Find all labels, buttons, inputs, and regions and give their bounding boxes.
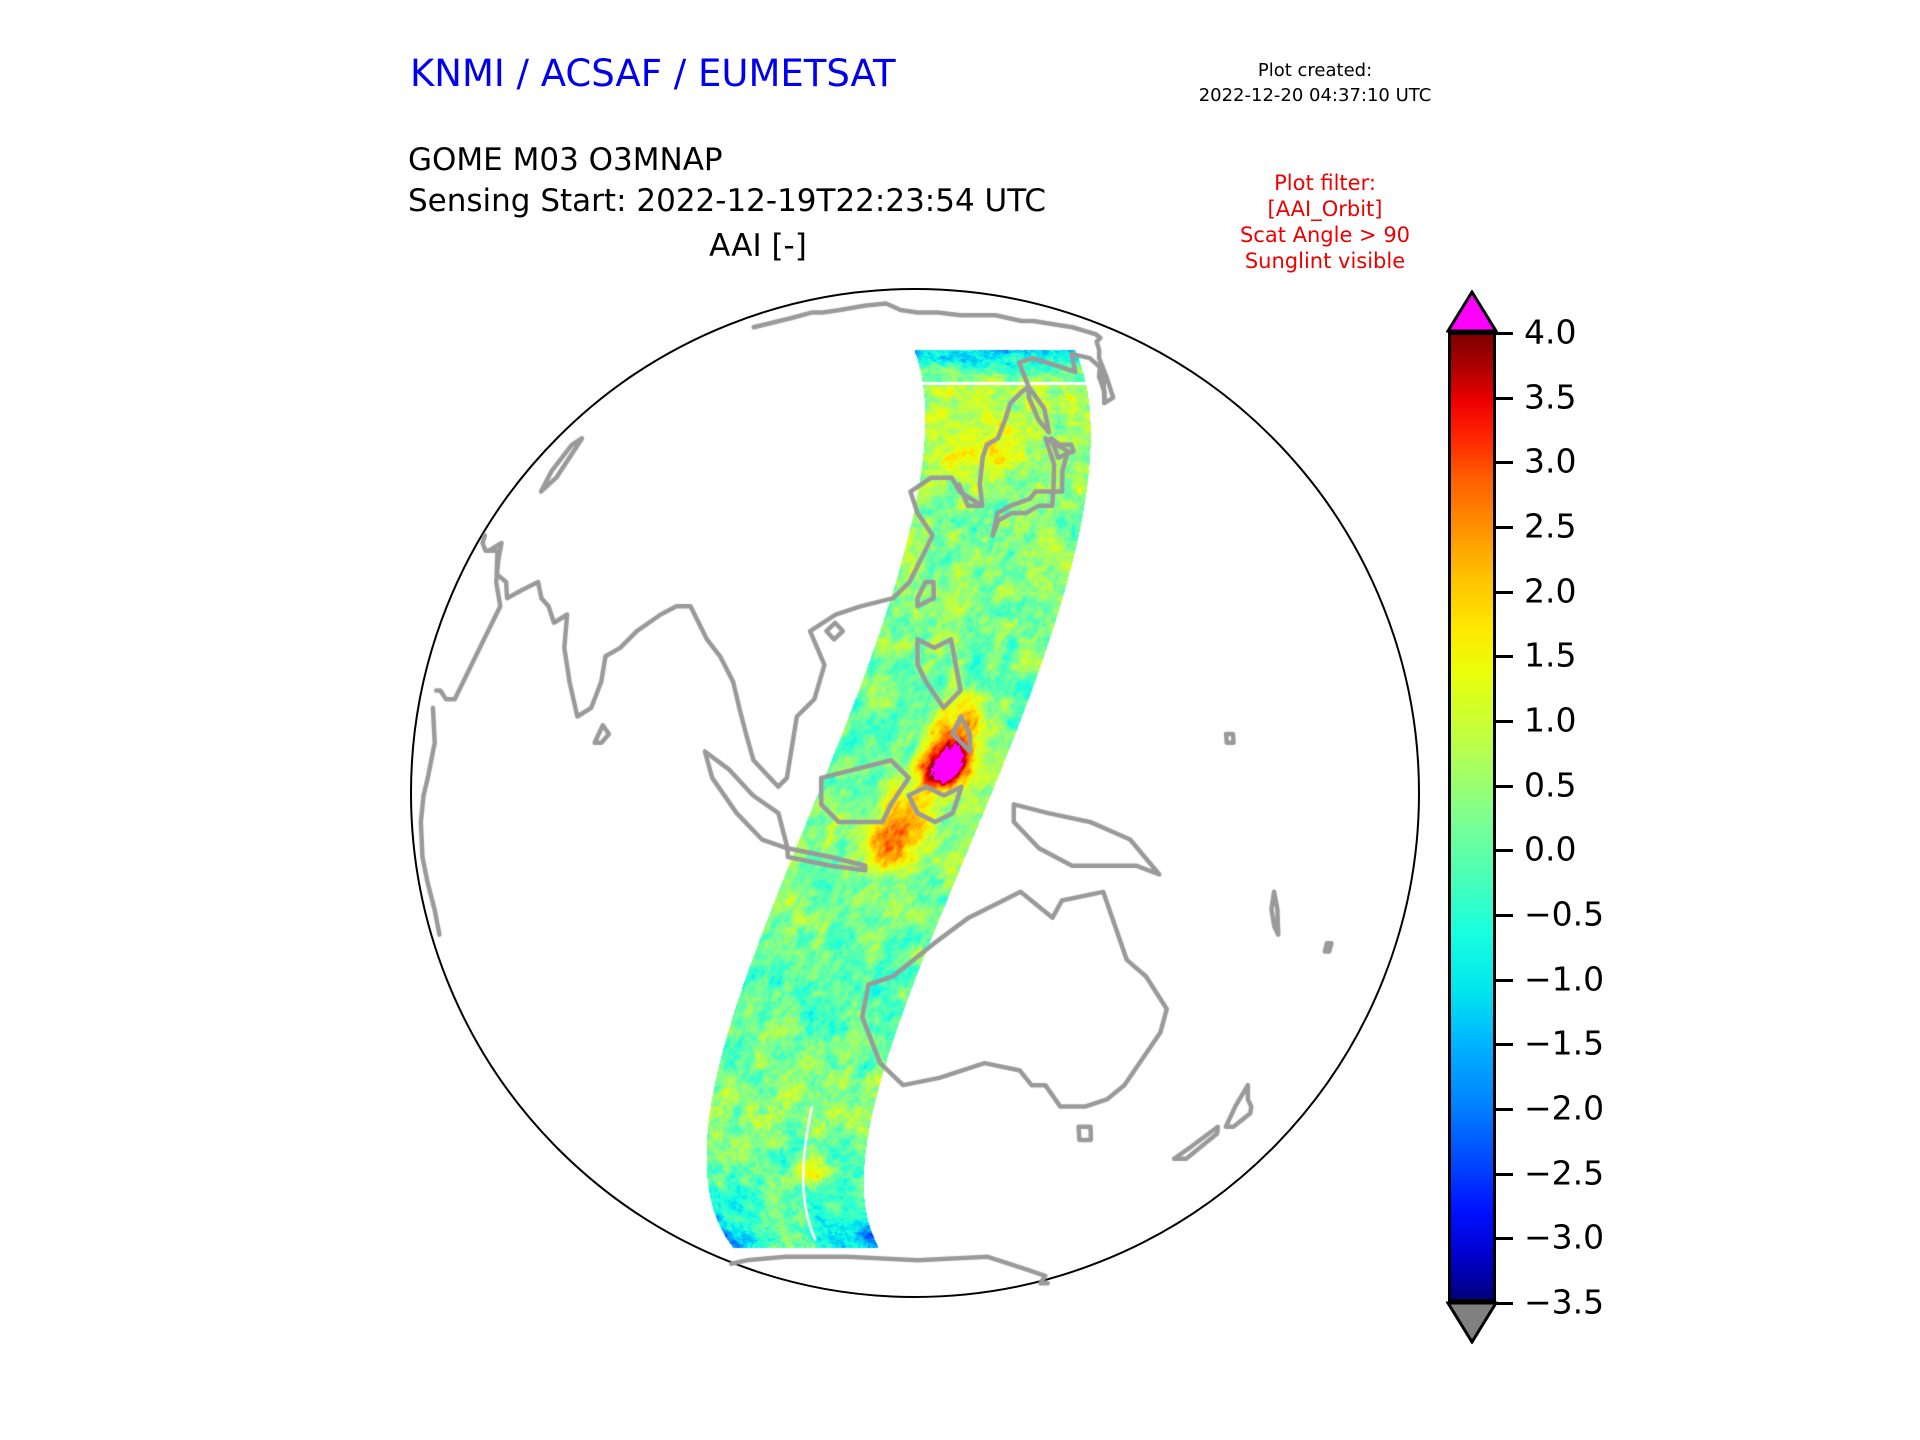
colorbar-gradient [1448, 332, 1496, 1302]
colorbar-tick-mark-2 [1496, 461, 1513, 464]
colorbar-tick-mark-11 [1496, 1043, 1513, 1046]
colorbar-tick-label-12: −2.0 [1524, 1089, 1604, 1128]
colorbar-tick-label-4: 2.0 [1524, 571, 1576, 610]
colorbar-tick-label-6: 1.0 [1524, 701, 1576, 740]
organisations-title: KNMI / ACSAF / EUMETSAT [410, 52, 896, 95]
plot-filter-line-2: Scat Angle > 90 [1180, 222, 1470, 248]
colorbar-tick-label-9: −0.5 [1524, 895, 1604, 934]
colorbar-tick-label-8: 0.0 [1524, 830, 1576, 869]
globe-map [400, 278, 1435, 1313]
colorbar-tick-label-7: 0.5 [1524, 765, 1576, 804]
swath-and-coastline-canvas [400, 278, 1435, 1313]
plot-filter-line-1: [AAI_Orbit] [1180, 196, 1470, 222]
colorbar-tick-mark-6 [1496, 720, 1513, 723]
colorbar-tick-mark-7 [1496, 785, 1513, 788]
colorbar-tick-mark-8 [1496, 849, 1513, 852]
plot-page: KNMI / ACSAF / EUMETSAT Plot created: 20… [0, 0, 1920, 1440]
colorbar-tick-mark-1 [1496, 397, 1513, 400]
colorbar-tick-mark-3 [1496, 526, 1513, 529]
plot-created-label: Plot created: [1155, 58, 1475, 83]
quantity-title: AAI [-] [408, 228, 1108, 264]
colorbar: 4.03.53.02.52.01.51.00.50.0−0.5−1.0−1.5−… [1430, 285, 1850, 1345]
sensing-start-line: Sensing Start: 2022-12-19T22:23:54 UTC [408, 181, 1046, 222]
colorbar-tick-mark-14 [1496, 1237, 1513, 1240]
instrument-line: GOME M03 O3MNAP [408, 140, 1046, 181]
colorbar-tick-label-1: 3.5 [1524, 377, 1576, 416]
plot-created-block: Plot created: 2022-12-20 04:37:10 UTC [1155, 58, 1475, 108]
colorbar-tick-label-10: −1.0 [1524, 959, 1604, 998]
colorbar-tick-mark-13 [1496, 1173, 1513, 1176]
colorbar-tick-label-3: 2.5 [1524, 507, 1576, 546]
colorbar-tick-mark-0 [1496, 332, 1513, 335]
colorbar-under-arrow [1446, 1301, 1498, 1344]
colorbar-tick-label-5: 1.5 [1524, 636, 1576, 675]
plot-filter-line-3: Sunglint visible [1180, 248, 1470, 274]
colorbar-tick-label-14: −3.0 [1524, 1218, 1604, 1257]
colorbar-tick-label-0: 4.0 [1524, 313, 1576, 352]
colorbar-tick-mark-12 [1496, 1108, 1513, 1111]
product-meta-block: GOME M03 O3MNAP Sensing Start: 2022-12-1… [408, 140, 1046, 222]
colorbar-tick-label-13: −2.5 [1524, 1153, 1604, 1192]
colorbar-tick-mark-4 [1496, 591, 1513, 594]
colorbar-tick-label-11: −1.5 [1524, 1024, 1604, 1063]
plot-created-timestamp: 2022-12-20 04:37:10 UTC [1155, 83, 1475, 108]
colorbar-tick-label-2: 3.0 [1524, 442, 1576, 481]
colorbar-over-arrow [1446, 290, 1498, 333]
colorbar-tick-mark-10 [1496, 979, 1513, 982]
plot-filter-block: Plot filter: [AAI_Orbit] Scat Angle > 90… [1180, 170, 1470, 274]
plot-filter-line-0: Plot filter: [1180, 170, 1470, 196]
colorbar-tick-mark-15 [1496, 1302, 1513, 1305]
colorbar-tick-mark-5 [1496, 655, 1513, 658]
colorbar-tick-mark-9 [1496, 914, 1513, 917]
colorbar-tick-label-15: −3.5 [1524, 1283, 1604, 1322]
